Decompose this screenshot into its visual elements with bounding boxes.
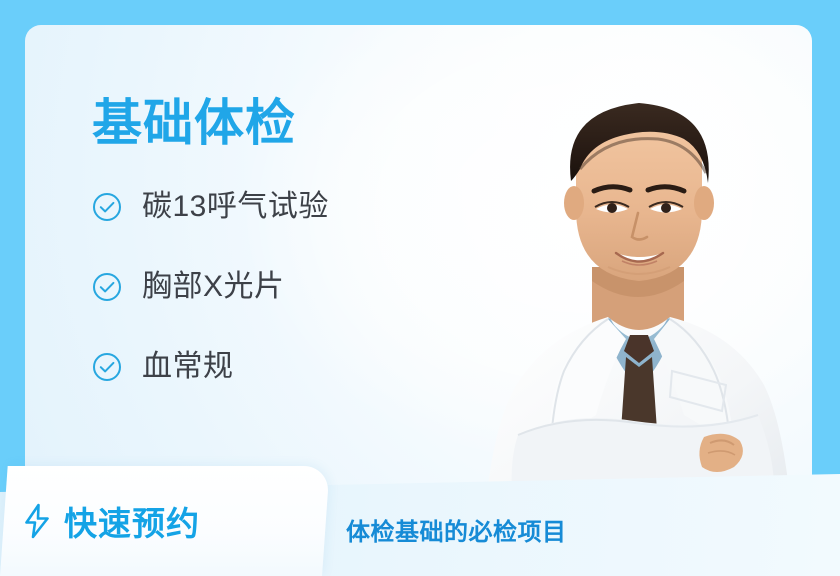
quick-book-label: 快速预约 [64, 497, 200, 545]
feature-label: 胸部X光片 [142, 270, 285, 304]
quick-book-button[interactable]: 快速预约 [22, 466, 322, 576]
package-title: 基础体检 [92, 95, 472, 151]
check-circle-icon [92, 192, 122, 222]
promo-banner: 基础体检 碳13呼气试验 [0, 0, 840, 576]
tagline-text: 体检基础的必检项目 [346, 512, 567, 547]
check-circle-icon [92, 352, 122, 382]
list-item[interactable]: 碳13呼气试验 [92, 179, 472, 235]
check-circle-icon [92, 272, 122, 302]
lightning-bolt-icon [22, 503, 52, 539]
feature-label: 碳13呼气试验 [142, 190, 329, 224]
package-content: 基础体检 碳13呼气试验 [92, 95, 472, 419]
bottom-bar: 快速预约 体检基础的必检项目 [0, 466, 840, 576]
list-item[interactable]: 血常规 [92, 339, 472, 395]
feature-label: 血常规 [142, 350, 234, 384]
feature-list: 碳13呼气试验 胸部X光片 [92, 179, 472, 395]
list-item[interactable]: 胸部X光片 [92, 259, 472, 315]
